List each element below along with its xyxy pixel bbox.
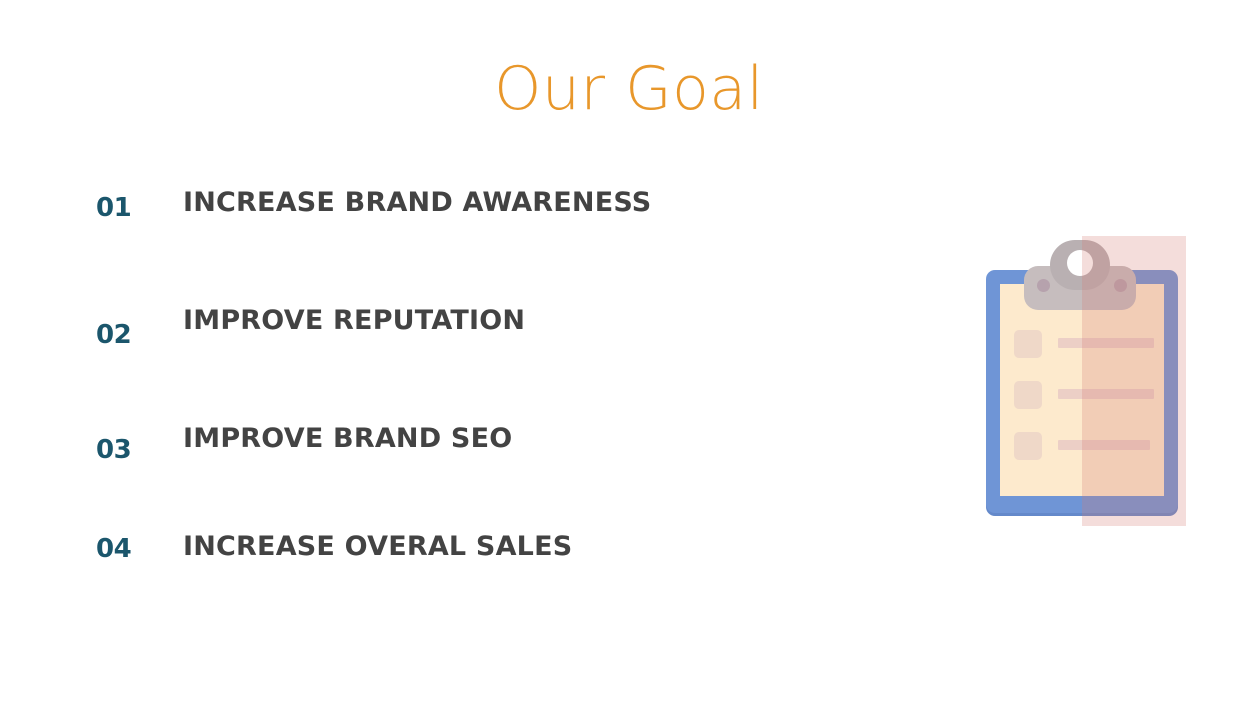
checklist-line <box>1058 440 1150 450</box>
checklist-line <box>1058 338 1154 348</box>
clipboard-rivet-left <box>1037 279 1050 292</box>
goal-number: 03 <box>96 435 162 465</box>
slide-canvas: Our Goal 01 INCREASE BRAND AWARENESS 02 … <box>0 0 1258 720</box>
checkbox-square <box>1014 432 1042 460</box>
clipboard-rivet-right <box>1114 279 1127 292</box>
clipboard-checklist-icon <box>978 236 1186 526</box>
checklist-line <box>1058 389 1154 399</box>
goal-number: 02 <box>96 320 162 350</box>
goal-label: IMPROVE BRAND SEO <box>183 423 512 454</box>
goal-label: INCREASE OVERAL SALES <box>183 531 572 562</box>
goal-number: 04 <box>96 534 162 564</box>
goal-label: INCREASE BRAND AWARENESS <box>183 187 651 218</box>
checkbox-square <box>1014 330 1042 358</box>
goal-label: IMPROVE REPUTATION <box>183 305 525 336</box>
page-title: Our Goal <box>0 56 1258 122</box>
goal-number: 01 <box>96 193 162 223</box>
clipboard-clip-hole <box>1067 250 1093 276</box>
checkbox-square <box>1014 381 1042 409</box>
goal-list: 01 INCREASE BRAND AWARENESS 02 IMPROVE R… <box>96 172 856 612</box>
